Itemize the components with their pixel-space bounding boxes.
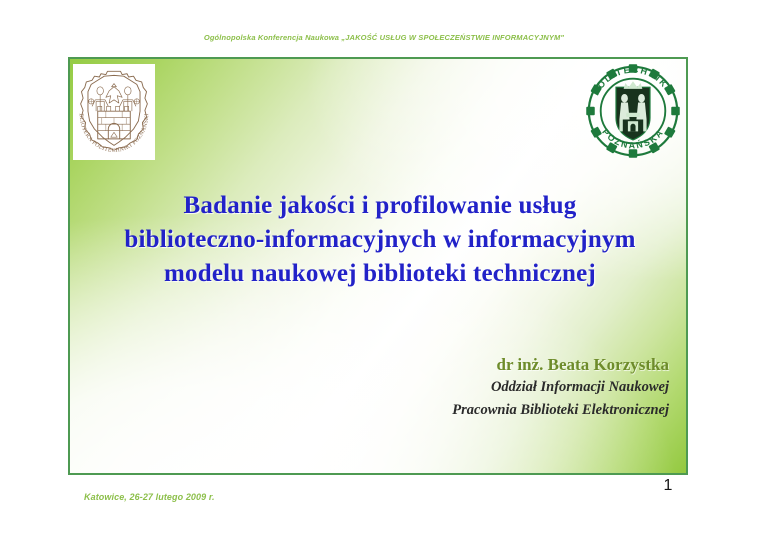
footer-place-date: Katowice, 26-27 lutego 2009 r.: [84, 492, 215, 502]
author-name: dr inż. Beata Korzystka: [239, 354, 669, 376]
left-logo-ring-text: BIBLIOTEKA POLITECHNIKI POZNAŃSKIEJ: [73, 64, 150, 154]
slide-frame: BIBLIOTEKA POLITECHNIKI POZNAŃSKIEJ: [68, 57, 688, 475]
author-block: dr inż. Beata Korzystka Oddział Informac…: [239, 354, 669, 422]
title-line-2: biblioteczno-informacyjnych w informacyj…: [82, 223, 678, 257]
slide-title: Badanie jakości i profilowanie usług bib…: [82, 189, 678, 291]
author-unit: Pracownia Biblioteki Elektronicznej: [239, 399, 669, 422]
svg-text:BIBLIOTEKA POLITECHNIKI POZNAŃ: BIBLIOTEKA POLITECHNIKI POZNAŃSKIEJ: [73, 64, 150, 154]
author-department: Oddział Informacji Naukowej: [239, 376, 669, 399]
conference-header-text: Ogólnopolska Konferencja Naukowa „JAKOŚĆ…: [0, 33, 768, 42]
title-line-1: Badanie jakości i profilowanie usług: [82, 189, 678, 223]
page-number: 1: [655, 477, 681, 495]
title-line-3: modelu naukowej biblioteki technicznej: [82, 257, 678, 291]
politechnika-poznanska-logo: POLITECHNIKA POZNAŃSKA: [582, 60, 684, 162]
biblioteka-politechniki-poznanskiej-emblem: BIBLIOTEKA POLITECHNIKI POZNAŃSKIEJ: [73, 64, 155, 160]
